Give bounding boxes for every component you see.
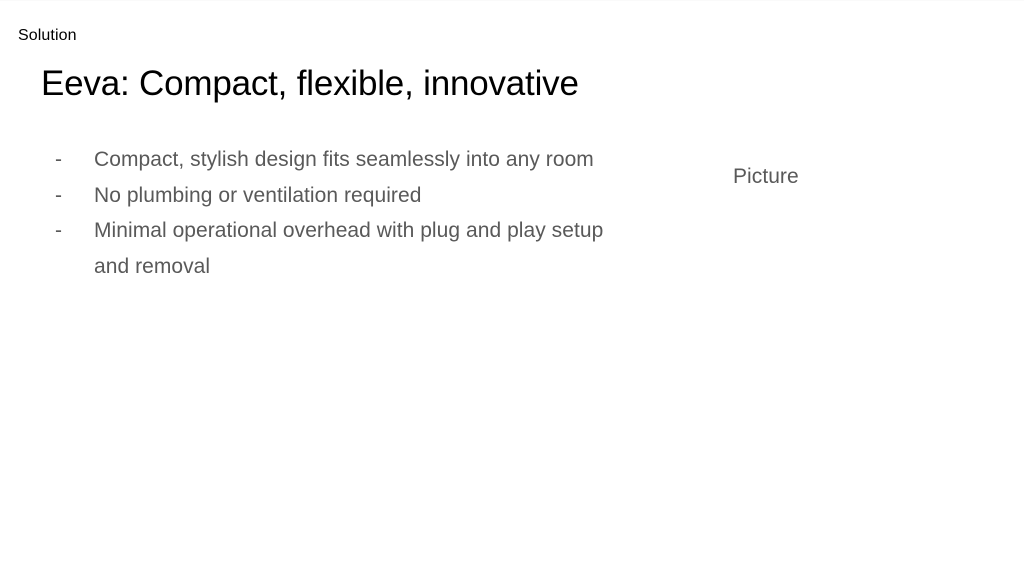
presentation-slide: Solution Eeva: Compact, flexible, innova… [0,0,1024,574]
bullet-dash-icon: - [55,178,75,214]
slide-eyebrow-label: Solution [18,26,77,46]
list-item: - Compact, stylish design fits seamlessl… [54,142,614,178]
slide-content-area: Solution Eeva: Compact, flexible, innova… [0,0,1024,574]
list-item-text: Minimal operational overhead with plug a… [94,213,614,284]
page-title: Eeva: Compact, flexible, innovative [41,62,579,106]
bullet-dash-icon: - [55,213,75,249]
list-item: - No plumbing or ventilation required [54,178,614,214]
bullet-dash-icon: - [55,142,75,178]
list-item-text: Compact, stylish design fits seamlessly … [94,142,614,178]
bullet-list: - Compact, stylish design fits seamlessl… [54,142,614,284]
picture-placeholder-label: Picture [733,163,799,191]
list-item: - Minimal operational overhead with plug… [54,213,614,284]
list-item-text: No plumbing or ventilation required [94,178,614,214]
